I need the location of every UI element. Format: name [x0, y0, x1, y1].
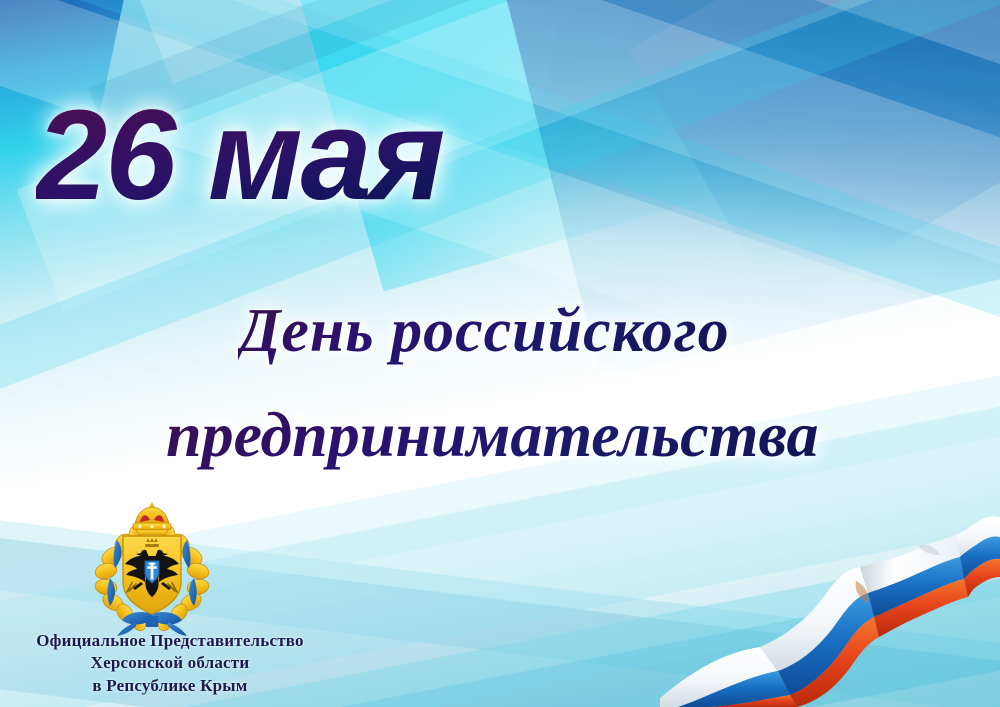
credit-line-3: в Репсублике Крым: [0, 675, 340, 697]
poster-canvas: 26 мая День российского предпринимательс…: [0, 0, 1000, 707]
poster-headline-date: 26 мая: [36, 92, 443, 220]
kherson-oblast-coat-of-arms-icon: [84, 498, 220, 640]
poster-subtitle-line-1: День российского: [238, 296, 730, 367]
russian-tricolor-ribbon-icon: [660, 457, 1000, 707]
credit-line-1: Официальное Представительство: [0, 630, 340, 652]
organization-credit-block: Официальное Представительство Херсонской…: [0, 630, 340, 697]
credit-line-2: Херсонской области: [0, 652, 340, 674]
